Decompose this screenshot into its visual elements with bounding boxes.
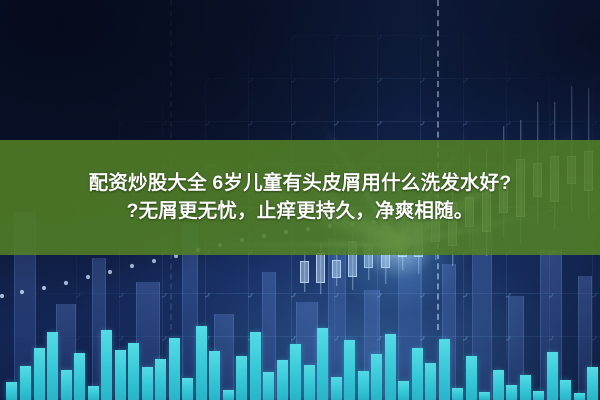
caption-band: 配资炒股大全 6岁儿童有头皮屑用什么洗发水好? ?无屑更无忧，止痒更持久，净爽相…: [0, 140, 600, 255]
banner-image: 配资炒股大全 6岁儿童有头皮屑用什么洗发水好? ?无屑更无忧，止痒更持久，净爽相…: [0, 0, 600, 400]
caption-line-2: ?无屑更无忧，止痒更持久，净爽相随。: [6, 198, 594, 226]
caption-line-1: 配资炒股大全 6岁儿童有头皮屑用什么洗发水好?: [6, 170, 594, 198]
caption-text-block: 配资炒股大全 6岁儿童有头皮屑用什么洗发水好? ?无屑更无忧，止痒更持久，净爽相…: [6, 170, 594, 225]
